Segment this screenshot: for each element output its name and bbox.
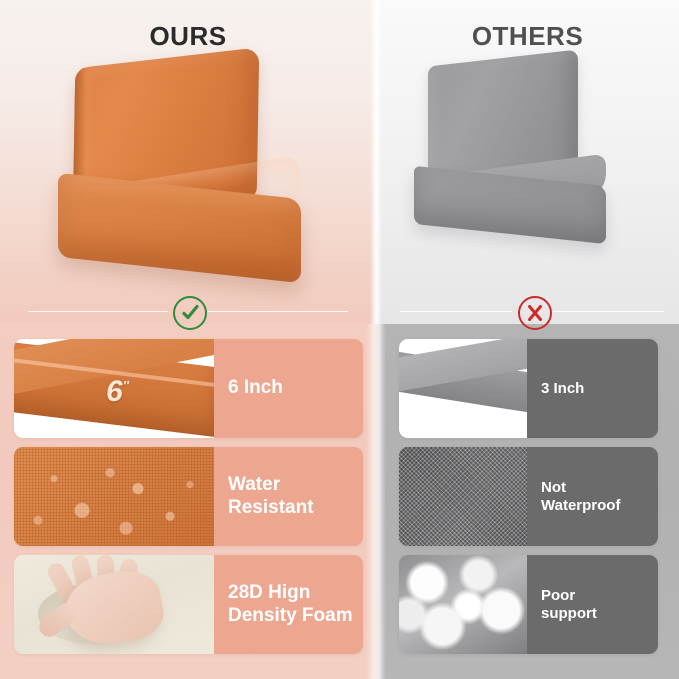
six-inch-stamp: 6″ [106, 375, 129, 409]
hand-pressing-foam-photo [14, 555, 214, 654]
six-inch-number: 6 [106, 375, 123, 408]
water-beading-fabric-photo [14, 447, 214, 546]
red-x-circle-icon [518, 296, 552, 330]
ours-feature-label-water: Water Resistant [214, 447, 363, 546]
right-divider-rule-end [552, 311, 664, 312]
ours-title: OURS [0, 21, 376, 52]
ours-feature-label-foam: 28D Hign Density Foam [214, 555, 363, 654]
ours-feature-card-water: Water Resistant [14, 447, 363, 546]
others-support-line1: Poor [541, 587, 575, 604]
ours-feature-card-foam: 28D Hign Density Foam [14, 555, 363, 654]
others-product-image [414, 58, 619, 266]
ours-thickness-text: 6 Inch [228, 377, 283, 399]
gray-thin-foam-photo [399, 339, 527, 438]
orange-foam-thickness-photo: 6″ [14, 339, 214, 438]
others-feature-card-thickness: 3 Inch [399, 339, 658, 438]
ours-water-text: Water Resistant [228, 474, 314, 519]
green-check-circle-icon [173, 296, 207, 330]
ours-feature-list: 6″ 6 Inch Water Resistant [14, 339, 363, 663]
comparison-infographic: OURS OTHERS 6″ [0, 0, 679, 679]
dark-mesh-fabric-photo [399, 447, 527, 546]
loose-fiber-fill-photo [399, 555, 527, 654]
ours-water-line2: Resistant [228, 497, 314, 518]
ours-foam-line2: Density Foam [228, 605, 353, 626]
others-support-text: Poor support [541, 587, 597, 622]
ours-feature-label-thickness: 6 Inch [214, 339, 363, 438]
others-thickness-text: 3 Inch [541, 380, 584, 398]
right-divider-rule-start [400, 311, 512, 312]
inch-mark: ″ [123, 378, 129, 393]
ours-product-image [58, 58, 318, 298]
others-feature-list: 3 Inch Not Waterproof Poor support [399, 339, 658, 663]
others-support-line2: support [541, 605, 597, 622]
ours-water-line1: Water [228, 474, 280, 495]
ours-foam-text: 28D Hign Density Foam [228, 582, 353, 627]
column-divider-lower [366, 324, 386, 679]
left-divider-rule-end [208, 311, 348, 312]
others-feature-label-support: Poor support [527, 555, 658, 654]
others-title: OTHERS [376, 21, 679, 52]
others-feature-label-water: Not Waterproof [527, 447, 658, 546]
others-water-text: Not Waterproof [541, 479, 620, 514]
others-water-line2: Waterproof [541, 497, 620, 514]
others-feature-card-support: Poor support [399, 555, 658, 654]
others-feature-card-water: Not Waterproof [399, 447, 658, 546]
others-feature-label-thickness: 3 Inch [527, 339, 658, 438]
others-water-line1: Not [541, 479, 566, 496]
left-divider-rule-start [28, 311, 168, 312]
ours-foam-line1: 28D Hign [228, 582, 310, 603]
ours-feature-card-thickness: 6″ 6 Inch [14, 339, 363, 438]
